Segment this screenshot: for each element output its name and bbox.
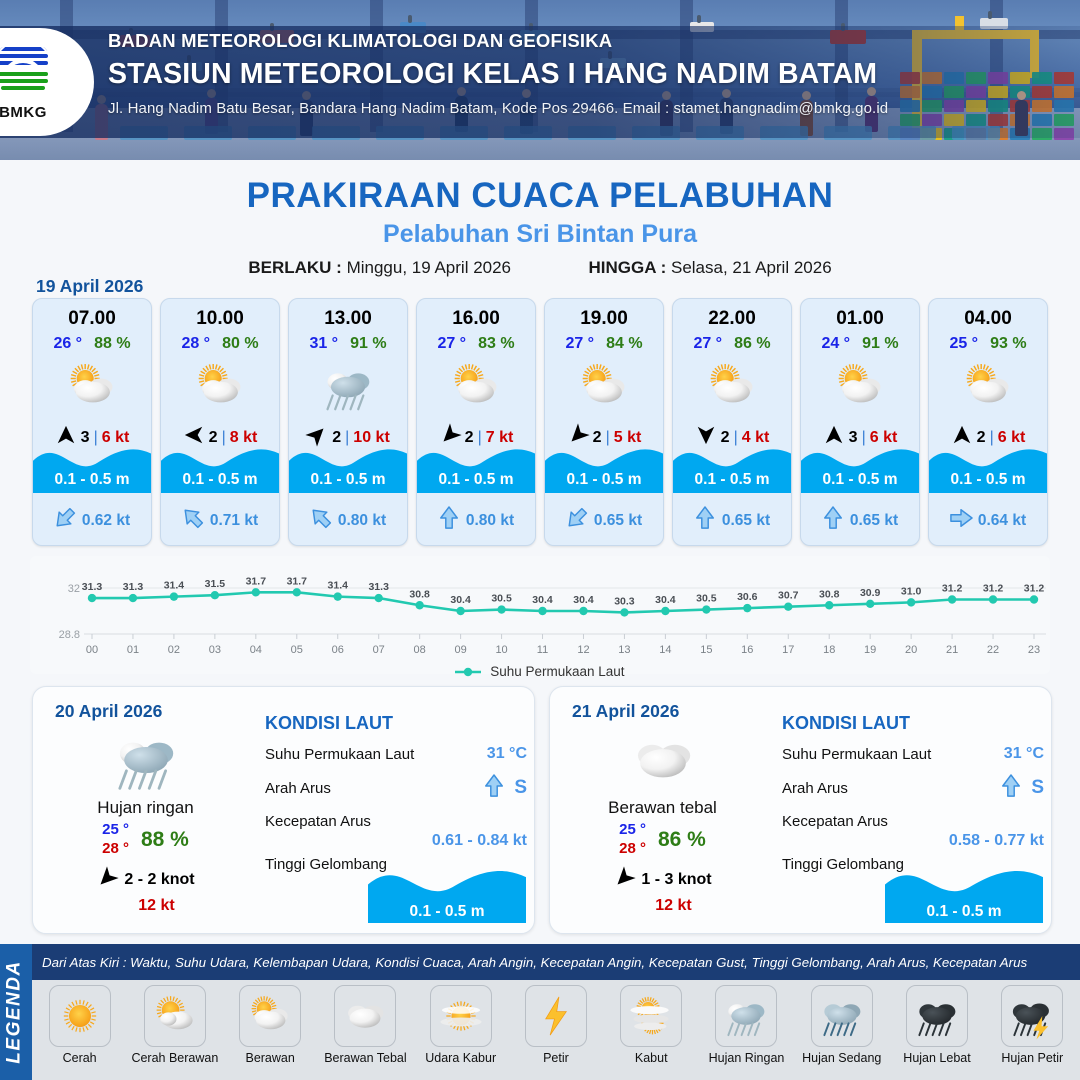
legend-item: Hujan Petir [987,985,1077,1065]
current-direction-arrow-icon [822,506,844,535]
panel-wave-height: 0.1 - 0.5 m [885,903,1043,921]
panel-condition: Berawan tebal [560,798,765,818]
current-direction-arrow-icon [310,506,332,535]
card-temp-humidity: 24 ° 91 % [801,335,919,353]
card-current-speed: 0.80 kt [338,512,386,530]
sea-conditions-title: KONDISI LAUT [782,713,1044,734]
daily-forecast-panel[interactable]: 21 April 2026 Berawan tebal 25 ° 28 ° 86… [549,686,1052,934]
daily-forecast-panel[interactable]: 20 April 2026 Hujan ringan 25 ° 28 ° 88 … [32,686,535,934]
sea-conditions-title: KONDISI LAUT [265,713,527,734]
current-direction-arrow-icon [950,506,972,535]
weather-hujan-ringan-icon [43,727,248,793]
svg-text:12: 12 [577,644,589,656]
panel-wave-height: 0.1 - 0.5 m [368,903,526,921]
svg-text:01: 01 [127,644,139,656]
svg-text:30.8: 30.8 [409,588,430,600]
current-direction-arrow-icon [54,506,76,535]
card-current: 0.71 kt [161,506,279,535]
legend-side-title: LEGENDA [0,944,30,1080]
svg-text:22: 22 [987,644,999,656]
svg-text:15: 15 [700,644,712,656]
panel-gust: 12 kt [65,897,248,915]
sst-label: Suhu Permukaan Laut [782,746,931,763]
svg-text:31.3: 31.3 [368,581,389,593]
card-temperature: 28 ° [181,335,210,353]
svg-text:10: 10 [495,644,507,656]
wind-direction-arrow-icon [613,867,635,894]
legend-item-label: Cerah Berawan [130,1051,220,1065]
station-name: STASIUN METEOROLOGI KELAS I HANG NADIM B… [108,58,888,91]
current-direction-label: Arah Arus [265,780,331,797]
card-current: 0.62 kt [33,506,151,535]
legend-item-label: Hujan Ringan [701,1051,791,1065]
card-current: 0.65 kt [545,506,663,535]
legend-item: Hujan Ringan [701,985,791,1065]
card-temp-humidity: 27 ° 86 % [673,335,791,353]
forecast-card[interactable]: 16.00 27 ° 83 % 2 | 7 kt 0.1 - 0.5 m [416,298,536,546]
page-header: BMKG BADAN METEOROLOGI KLIMATOLOGI DAN G… [0,0,1080,160]
card-temp-humidity: 26 ° 88 % [33,335,151,353]
panel-date: 20 April 2026 [55,701,162,722]
berlaku-value: Minggu, 19 April 2026 [347,258,511,277]
svg-text:19: 19 [864,644,876,656]
legend-item-label: Berawan Tebal [320,1051,410,1065]
card-humidity: 80 % [222,335,258,353]
forecast-card[interactable]: 07.00 26 ° 88 % 3 | 6 kt 0.1 - 0.5 m [32,298,152,546]
card-temp-humidity: 31 ° 91 % [289,335,407,353]
sst-label: Suhu Permukaan Laut [265,746,414,763]
svg-text:32: 32 [68,583,80,595]
panel-temp-min: 25 ° [102,821,129,840]
current-direction-row: Arah Arus S [265,774,527,802]
current-speed-label: Kecepatan Arus [265,813,527,830]
svg-text:30.8: 30.8 [819,588,840,600]
current-direction-label: Arah Arus [782,780,848,797]
weather-hujan-lebat-icon [906,985,968,1047]
card-current-speed: 0.64 kt [978,512,1026,530]
legend-item-label: Hujan Petir [987,1051,1077,1065]
current-direction-arrow-icon [566,506,588,535]
svg-text:30.5: 30.5 [491,593,512,605]
panel-temps: 25 ° 28 ° [619,821,646,859]
card-wave-height: 0.1 - 0.5 m [33,471,151,489]
current-speed-label: Kecepatan Arus [782,813,1044,830]
panel-temps: 25 ° 28 ° [102,821,129,859]
panel-temp-max: 28 ° [102,840,129,859]
sst-row: Suhu Permukaan Laut 31 °C [265,745,527,763]
station-address: Jl. Hang Nadim Batu Besar, Bandara Hang … [108,100,888,117]
legend-item-label: Petir [511,1051,601,1065]
berlaku-label: BERLAKU : [248,258,342,277]
card-current: 0.64 kt [929,506,1047,535]
svg-text:30.4: 30.4 [573,594,594,606]
panel-gust: 12 kt [582,897,765,915]
svg-text:13: 13 [618,644,630,656]
current-direction-arrow-icon [438,506,460,535]
svg-text:30.5: 30.5 [696,593,717,605]
card-time: 04.00 [929,308,1047,330]
legend-item-label: Hujan Lebat [892,1051,982,1065]
chart-legend-marker [455,666,481,678]
card-time: 22.00 [673,308,791,330]
panel-condition: Hujan ringan [43,798,248,818]
card-current-speed: 0.80 kt [466,512,514,530]
panel-wind-value: 2 - 2 knot [124,871,194,889]
weather-cerah-icon [49,985,111,1047]
weather-berawan-icon [161,356,279,418]
svg-text:31.7: 31.7 [246,575,267,587]
hourly-forecast-row: 07.00 26 ° 88 % 3 | 6 kt 0.1 - 0.5 m [32,298,1048,546]
svg-text:17: 17 [782,644,794,656]
hingga-value: Selasa, 21 April 2026 [671,258,832,277]
header-text-block: BADAN METEOROLOGI KLIMATOLOGI DAN GEOFIS… [108,30,888,117]
weather-udara-kabur-icon [430,985,492,1047]
svg-text:30.4: 30.4 [532,594,553,606]
svg-text:23: 23 [1028,644,1040,656]
card-current: 0.80 kt [289,506,407,535]
weather-berawan-tebal-icon [334,985,396,1047]
card-temperature: 24 ° [821,335,850,353]
card-temperature: 31 ° [309,335,338,353]
card-wave-height: 0.1 - 0.5 m [545,471,663,489]
panel-temp-humidity: 25 ° 28 ° 86 % [560,821,765,859]
legend-note: Dari Atas Kiri : Waktu, Suhu Udara, Kele… [32,944,1080,980]
current-direction-arrow-icon [182,506,204,535]
title-section: PRAKIRAAN CUACA PELABUHAN Pelabuhan Sri … [0,176,1080,278]
svg-text:05: 05 [291,644,303,656]
current-speed-value: 0.61 - 0.84 kt [265,832,527,850]
current-direction-arrow-icon [694,506,716,535]
legend-item-label: Cerah [35,1051,125,1065]
card-humidity: 91 % [350,335,386,353]
page-subtitle: Pelabuhan Sri Bintan Pura [0,220,1080,249]
card-humidity: 93 % [990,335,1026,353]
svg-text:31.2: 31.2 [1024,583,1045,595]
panel-wind: 1 - 3 knot [560,867,765,894]
svg-text:28.8: 28.8 [59,629,80,641]
forecast-card[interactable]: 04.00 25 ° 93 % 2 | 6 kt 0.1 - 0.5 m [928,298,1048,546]
svg-text:31.4: 31.4 [328,580,349,592]
forecast-card[interactable]: 13.00 31 ° 91 % 2 | 10 kt 0.1 - 0.5 [288,298,408,546]
card-temp-humidity: 28 ° 80 % [161,335,279,353]
weather-cerah-berawan-icon [144,985,206,1047]
svg-text:11: 11 [537,644,548,656]
svg-text:31.0: 31.0 [901,585,922,597]
panel-humidity: 88 % [141,828,189,852]
svg-text:00: 00 [86,644,98,656]
forecast-date-label: 19 April 2026 [36,276,143,297]
panel-date: 21 April 2026 [572,701,679,722]
weather-hujan-sedang-icon [811,985,873,1047]
panel-sea-conditions: KONDISI LAUT Suhu Permukaan Laut 31 °C A… [265,713,527,873]
legend-item-label: Udara Kabur [416,1051,506,1065]
card-wave-height: 0.1 - 0.5 m [673,471,791,489]
current-direction-value: S [1031,777,1044,799]
svg-text:31.2: 31.2 [942,583,963,595]
chart-legend-label: Suhu Permukaan Laut [490,664,624,679]
card-temperature: 27 ° [437,335,466,353]
page-title: PRAKIRAAN CUACA PELABUHAN [0,176,1080,216]
forecast-card[interactable]: 10.00 28 ° 80 % 2 | 8 kt 0.1 - 0.5 m [160,298,280,546]
card-humidity: 88 % [94,335,130,353]
current-speed-value: 0.58 - 0.77 kt [782,832,1044,850]
card-time: 16.00 [417,308,535,330]
weather-hujan-petir-icon [1001,985,1063,1047]
svg-text:08: 08 [414,644,426,656]
legend-item: Hujan Lebat [892,985,982,1065]
svg-text:16: 16 [741,644,753,656]
card-temp-humidity: 25 ° 93 % [929,335,1047,353]
card-temp-humidity: 27 ° 83 % [417,335,535,353]
panel-temp-max: 28 ° [619,840,646,859]
weather-berawan-icon [545,356,663,418]
panel-temp-min: 25 ° [619,821,646,840]
sst-chart: 3228.80001020304050607080910111213141516… [30,556,1050,674]
legend-item: Kabut [606,985,696,1065]
sst-value: 31 °C [487,745,527,763]
weather-berawan-icon [801,356,919,418]
card-humidity: 83 % [478,335,514,353]
current-direction-arrow-icon [483,774,505,802]
wind-direction-arrow-icon [96,867,118,894]
card-humidity: 84 % [606,335,642,353]
weather-hujan-ringan-icon [289,356,407,418]
svg-text:04: 04 [250,644,262,656]
weather-berawan-icon [673,356,791,418]
svg-text:30.9: 30.9 [860,587,881,599]
current-speed-row: Kecepatan Arus 0.61 - 0.84 kt [265,813,527,850]
card-temperature: 27 ° [565,335,594,353]
legend-item: Udara Kabur [416,985,506,1065]
weather-hujan-ringan-icon [715,985,777,1047]
svg-text:30.4: 30.4 [450,594,471,606]
svg-text:14: 14 [659,644,671,656]
legend-item: Berawan [225,985,315,1065]
card-wave-height: 0.1 - 0.5 m [161,471,279,489]
svg-text:02: 02 [168,644,180,656]
card-temp-humidity: 27 ° 84 % [545,335,663,353]
agency-name: BADAN METEOROLOGI KLIMATOLOGI DAN GEOFIS… [108,30,888,52]
svg-text:21: 21 [946,644,958,656]
legend-bar: LEGENDA Dari Atas Kiri : Waktu, Suhu Uda… [0,944,1080,1080]
card-current-speed: 0.65 kt [594,512,642,530]
legend-item: Petir [511,985,601,1065]
current-speed-row: Kecepatan Arus 0.58 - 0.77 kt [782,813,1044,850]
weather-kabut-icon [620,985,682,1047]
legend-item: Hujan Sedang [797,985,887,1065]
weather-berawan-icon [929,356,1047,418]
card-current-speed: 0.71 kt [210,512,258,530]
card-current-speed: 0.65 kt [722,512,770,530]
weather-berawan-icon [417,356,535,418]
legend-icon-list: Cerah Cerah Berawan Berawa [32,980,1080,1080]
card-time: 10.00 [161,308,279,330]
svg-text:31.3: 31.3 [123,581,144,593]
panel-wind: 2 - 2 knot [43,867,248,894]
panel-humidity: 86 % [658,828,706,852]
validity-row: BERLAKU : Minggu, 19 April 2026 HINGGA :… [0,258,1080,278]
weather-berawan-icon [239,985,301,1047]
svg-text:31.2: 31.2 [983,583,1004,595]
chart-legend: Suhu Permukaan Laut [0,664,1080,679]
bmkg-logo-icon [0,39,54,101]
legend-item: Cerah Berawan [130,985,220,1065]
card-current: 0.80 kt [417,506,535,535]
card-temperature: 25 ° [949,335,978,353]
svg-text:31.5: 31.5 [205,578,226,590]
legend-item: Cerah [35,985,125,1065]
weather-berawan-icon [33,356,151,418]
forecast-card[interactable]: 22.00 27 ° 86 % 2 | 4 kt 0.1 - 0.5 m [672,298,792,546]
svg-text:18: 18 [823,644,835,656]
card-time: 13.00 [289,308,407,330]
card-temperature: 27 ° [693,335,722,353]
svg-text:30.3: 30.3 [614,595,635,607]
svg-text:09: 09 [454,644,466,656]
svg-text:06: 06 [332,644,344,656]
bmkg-logo-text: BMKG [0,104,74,121]
legend-item-label: Hujan Sedang [797,1051,887,1065]
panel-left: Hujan ringan 25 ° 28 ° 88 % 2 - 2 knot 1… [43,727,248,915]
card-temperature: 26 ° [53,335,82,353]
legend-item-label: Kabut [606,1051,696,1065]
legend-item: Berawan Tebal [320,985,410,1065]
forecast-card[interactable]: 19.00 27 ° 84 % 2 | 5 kt 0.1 - 0.5 m [544,298,664,546]
card-wave-height: 0.1 - 0.5 m [417,471,535,489]
svg-text:07: 07 [373,644,385,656]
card-humidity: 91 % [862,335,898,353]
weather-petir-icon [525,985,587,1047]
card-current-speed: 0.65 kt [850,512,898,530]
legend-item-label: Berawan [225,1051,315,1065]
card-time: 01.00 [801,308,919,330]
svg-text:31.3: 31.3 [82,581,103,593]
hingga-label: HINGGA : [588,258,666,277]
current-direction-row: Arah Arus S [782,774,1044,802]
card-wave-height: 0.1 - 0.5 m [801,471,919,489]
card-time: 07.00 [33,308,151,330]
current-direction-value: S [514,777,527,799]
weather-berawan-tebal-icon [560,727,765,793]
panel-sea-conditions: KONDISI LAUT Suhu Permukaan Laut 31 °C A… [782,713,1044,873]
svg-text:31.7: 31.7 [287,575,308,587]
svg-text:30.7: 30.7 [778,590,799,602]
card-wave-height: 0.1 - 0.5 m [929,471,1047,489]
sst-row: Suhu Permukaan Laut 31 °C [782,745,1044,763]
card-current-speed: 0.62 kt [82,512,130,530]
svg-text:03: 03 [209,644,221,656]
forecast-card[interactable]: 01.00 24 ° 91 % 3 | 6 kt 0.1 - 0.5 m [800,298,920,546]
current-direction-arrow-icon [1000,774,1022,802]
svg-text:30.6: 30.6 [737,591,758,603]
panel-wind-value: 1 - 3 knot [641,871,711,889]
sst-value: 31 °C [1004,745,1044,763]
card-humidity: 86 % [734,335,770,353]
panel-temp-humidity: 25 ° 28 ° 88 % [43,821,248,859]
card-wave-height: 0.1 - 0.5 m [289,471,407,489]
card-current: 0.65 kt [673,506,791,535]
svg-text:30.4: 30.4 [655,594,676,606]
panel-left: Berawan tebal 25 ° 28 ° 86 % 1 - 3 knot … [560,727,765,915]
svg-text:31.4: 31.4 [164,580,185,592]
daily-panels: 20 April 2026 Hujan ringan 25 ° 28 ° 88 … [32,686,1052,934]
card-current: 0.65 kt [801,506,919,535]
card-time: 19.00 [545,308,663,330]
svg-text:20: 20 [905,644,917,656]
